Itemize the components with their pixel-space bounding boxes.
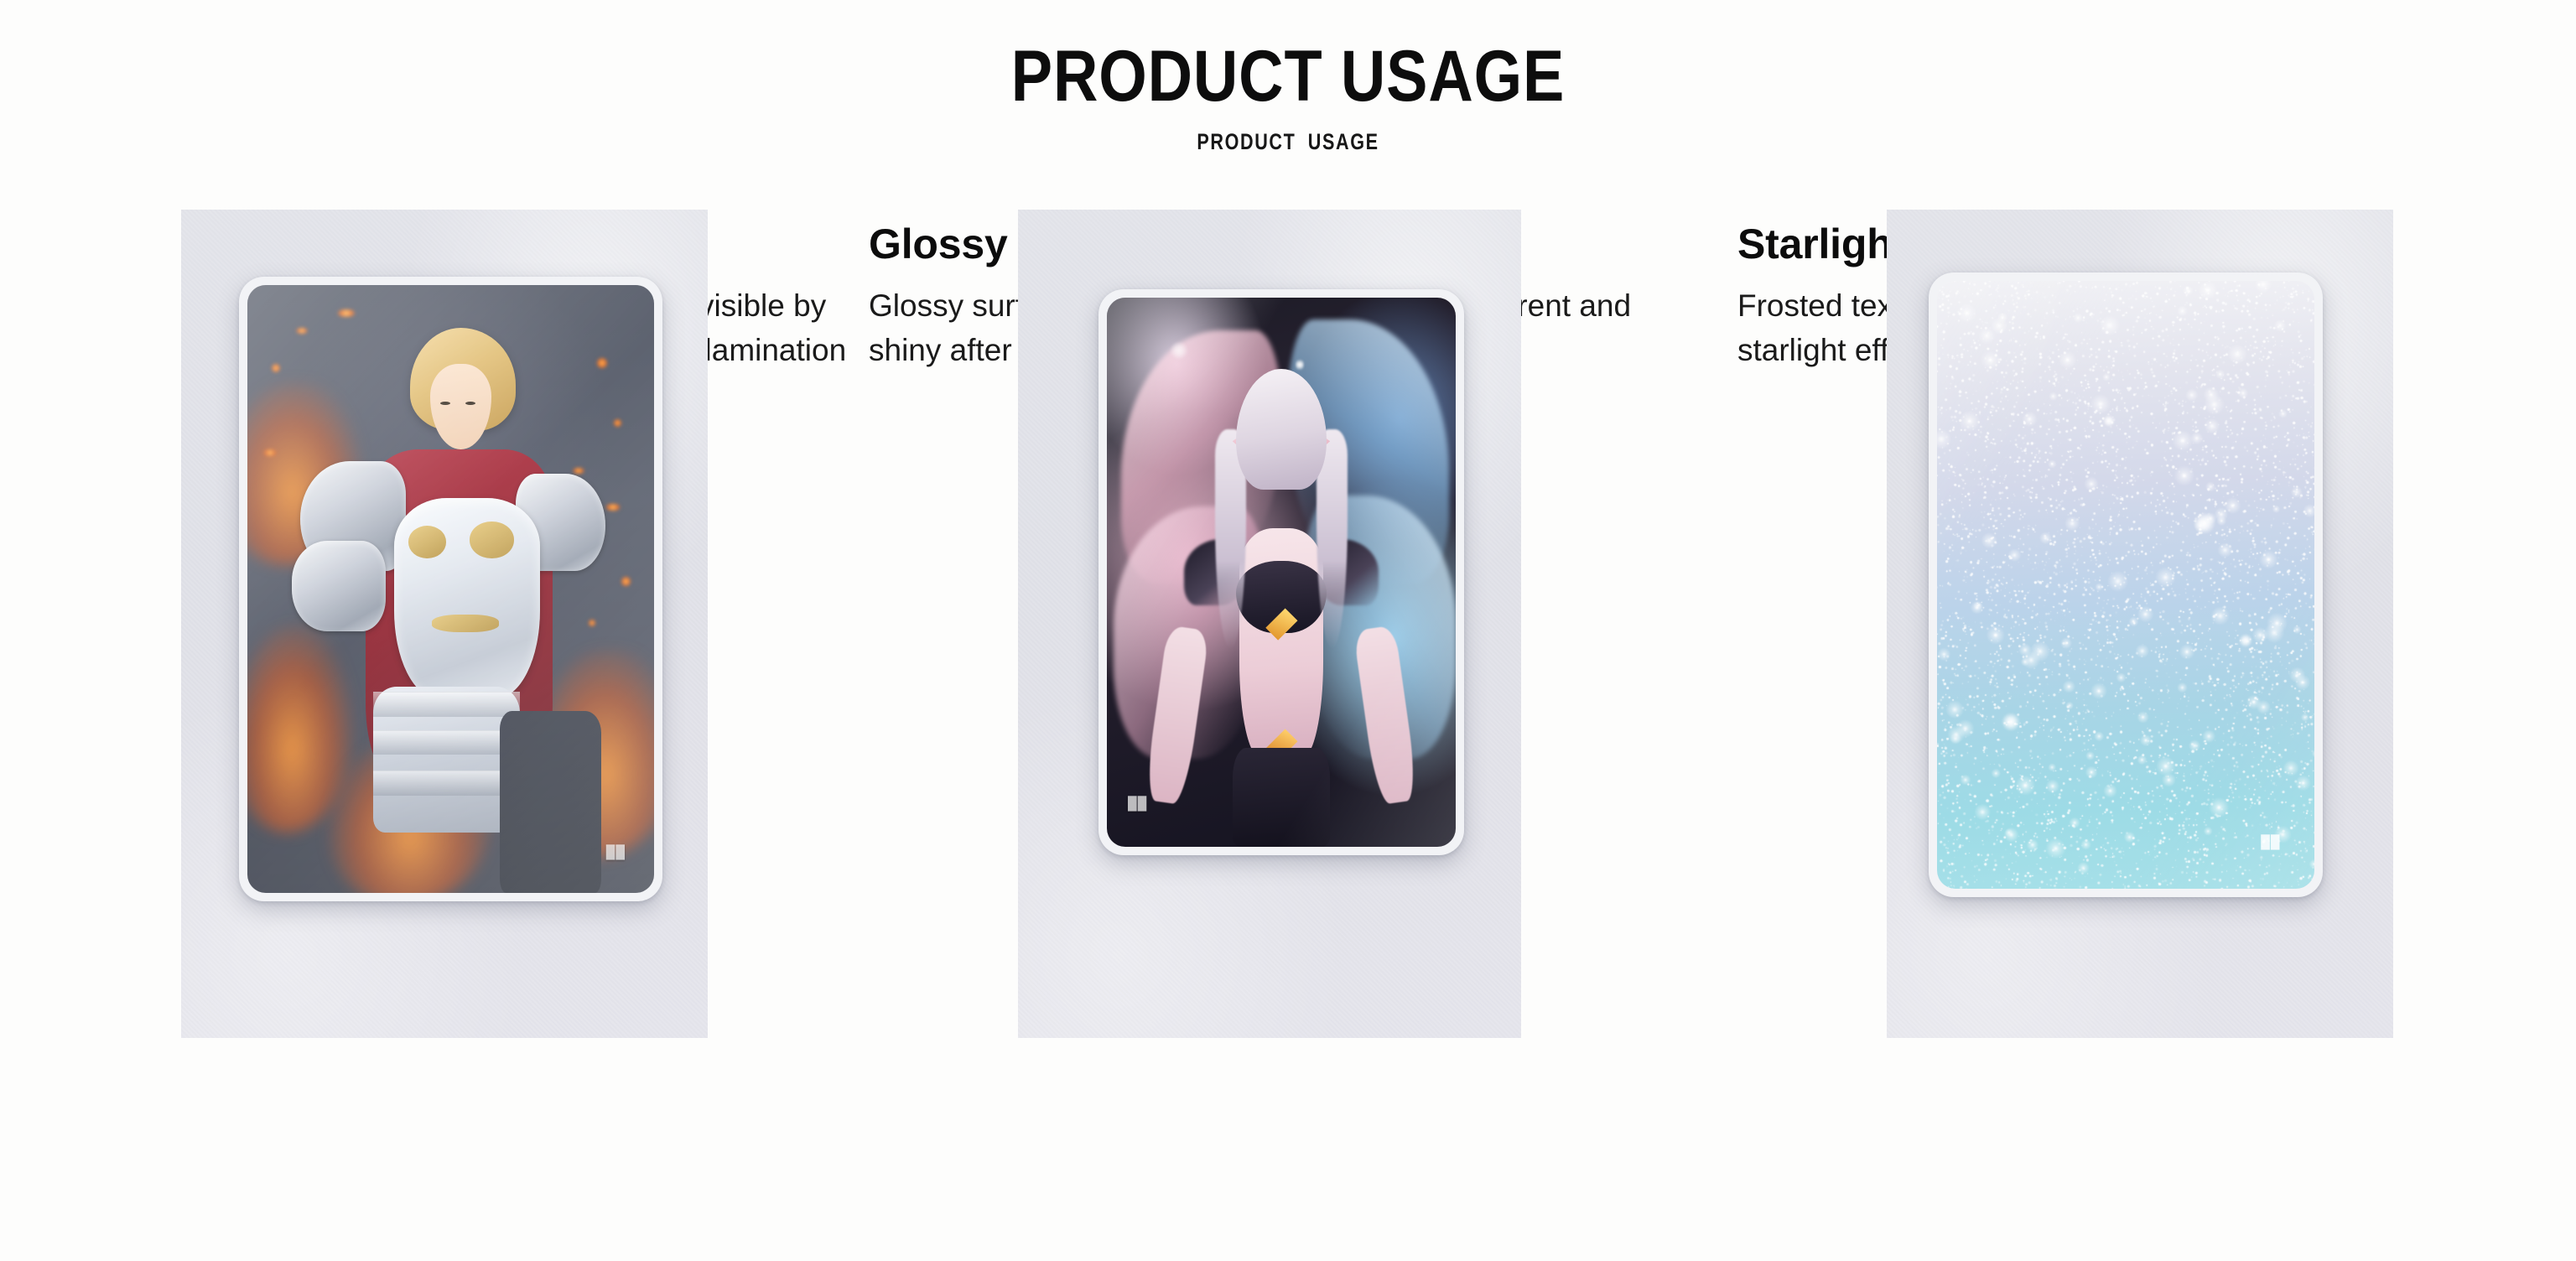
knight-armor-band [373,692,520,717]
knight-face [430,364,491,449]
page-subtitle: PRODUCTUSAGE [257,129,2319,155]
page-subtitle-word-2: USAGE [1308,129,1379,154]
fire-ember [573,468,584,474]
fire-ember [614,419,621,427]
knight-armor-band [373,771,520,796]
knight-breastplate [394,498,541,698]
glitter-texture [1937,281,2314,889]
page-subtitle-word-1: PRODUCT [1197,129,1296,154]
fire-ember [296,328,308,334]
knight-armor-band [373,730,520,755]
starlight-card: ██ [1929,272,2323,897]
fire-ember [337,309,356,317]
page-header: PRODUCT USAGE PRODUCTUSAGE [0,0,2576,155]
card-watermark: ██ [1128,797,1147,811]
starlight-card-face: ██ [1937,281,2314,889]
starlight-artwork [1937,281,2314,889]
knight-gold-filigree [470,522,513,558]
fire-ember [263,449,277,456]
knight-artwork [247,285,654,893]
page-title: PRODUCT USAGE [180,40,2396,112]
sparkle [2239,634,2252,647]
card-watermark: ██ [606,845,626,859]
knight-eye [465,402,475,405]
sparkle [2194,512,2215,534]
matte-card: ██ [239,277,662,901]
fire-ember [621,577,631,586]
fire-ember [597,358,607,368]
knight-gold-filigree [408,526,446,558]
matte-film-photo: ██ [181,210,708,1038]
knight-leg [500,711,601,894]
sparkle [1296,358,1304,371]
knight-gold-filigree [432,615,499,633]
glossy-film-photo: ██ [1018,210,1521,1038]
card-watermark: ██ [2261,835,2280,849]
starlight-film-photo: ██ [1887,210,2393,1038]
knight-eye [440,402,450,405]
fire-ember [589,620,595,626]
glossy-card-face: ██ [1107,298,1456,847]
fairy-skirt [1233,748,1330,847]
fire-ember [272,364,280,372]
sparkle [2002,713,2020,731]
glossy-card: ██ [1098,289,1464,855]
knight-pauldron-left-lower [292,541,386,632]
fire-ember [605,504,621,511]
fairy-artwork [1107,298,1456,847]
knight-waist-armor [373,687,520,833]
matte-card-face: ██ [247,285,654,893]
sparkle [2103,415,2115,427]
